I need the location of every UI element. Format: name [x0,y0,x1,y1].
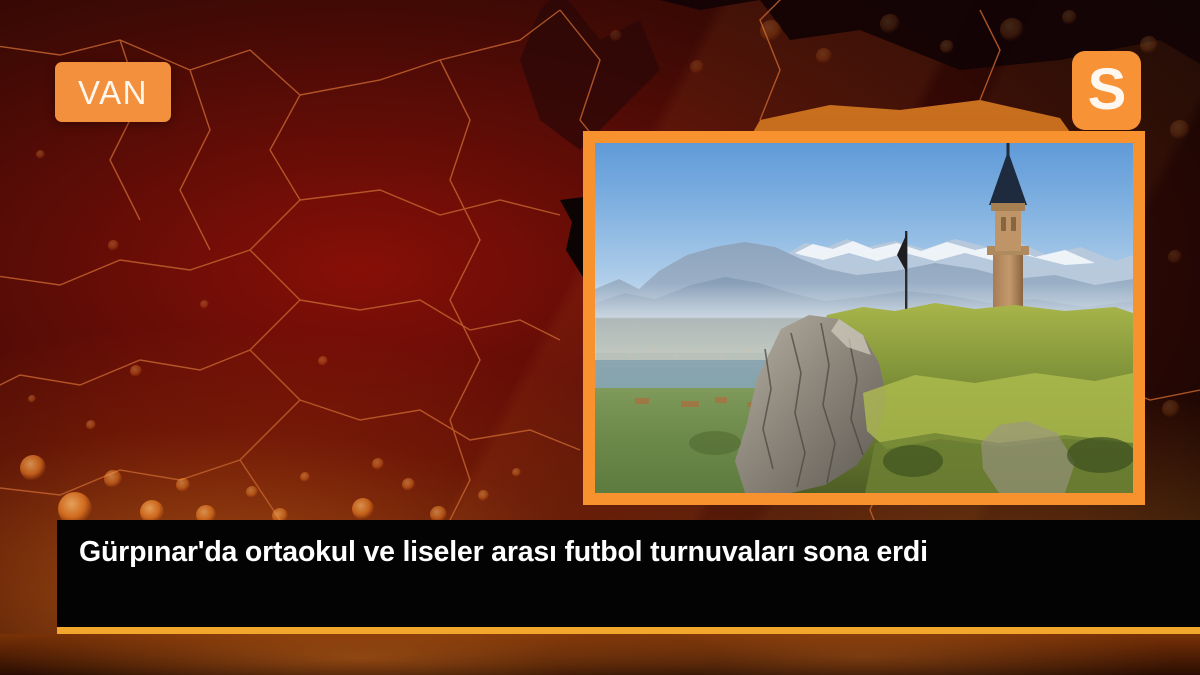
bottom-glow-band [0,634,1200,675]
photo-frame [583,131,1145,505]
brand-s-logo[interactable]: S [1072,51,1141,130]
province-badge-label: VAN [78,76,148,109]
headline-accent-rule [57,627,1200,634]
brand-logo-letter: S [1088,61,1126,119]
photo-foreground [595,143,1133,493]
headline-text: Gürpınar'da ortaokul ve liseler arası fu… [79,534,1178,572]
headline-bar: Gürpınar'da ortaokul ve liseler arası fu… [57,520,1200,627]
province-badge: VAN [55,62,171,122]
news-card: VAN S [0,0,1200,675]
photo-van-castle [595,143,1133,493]
